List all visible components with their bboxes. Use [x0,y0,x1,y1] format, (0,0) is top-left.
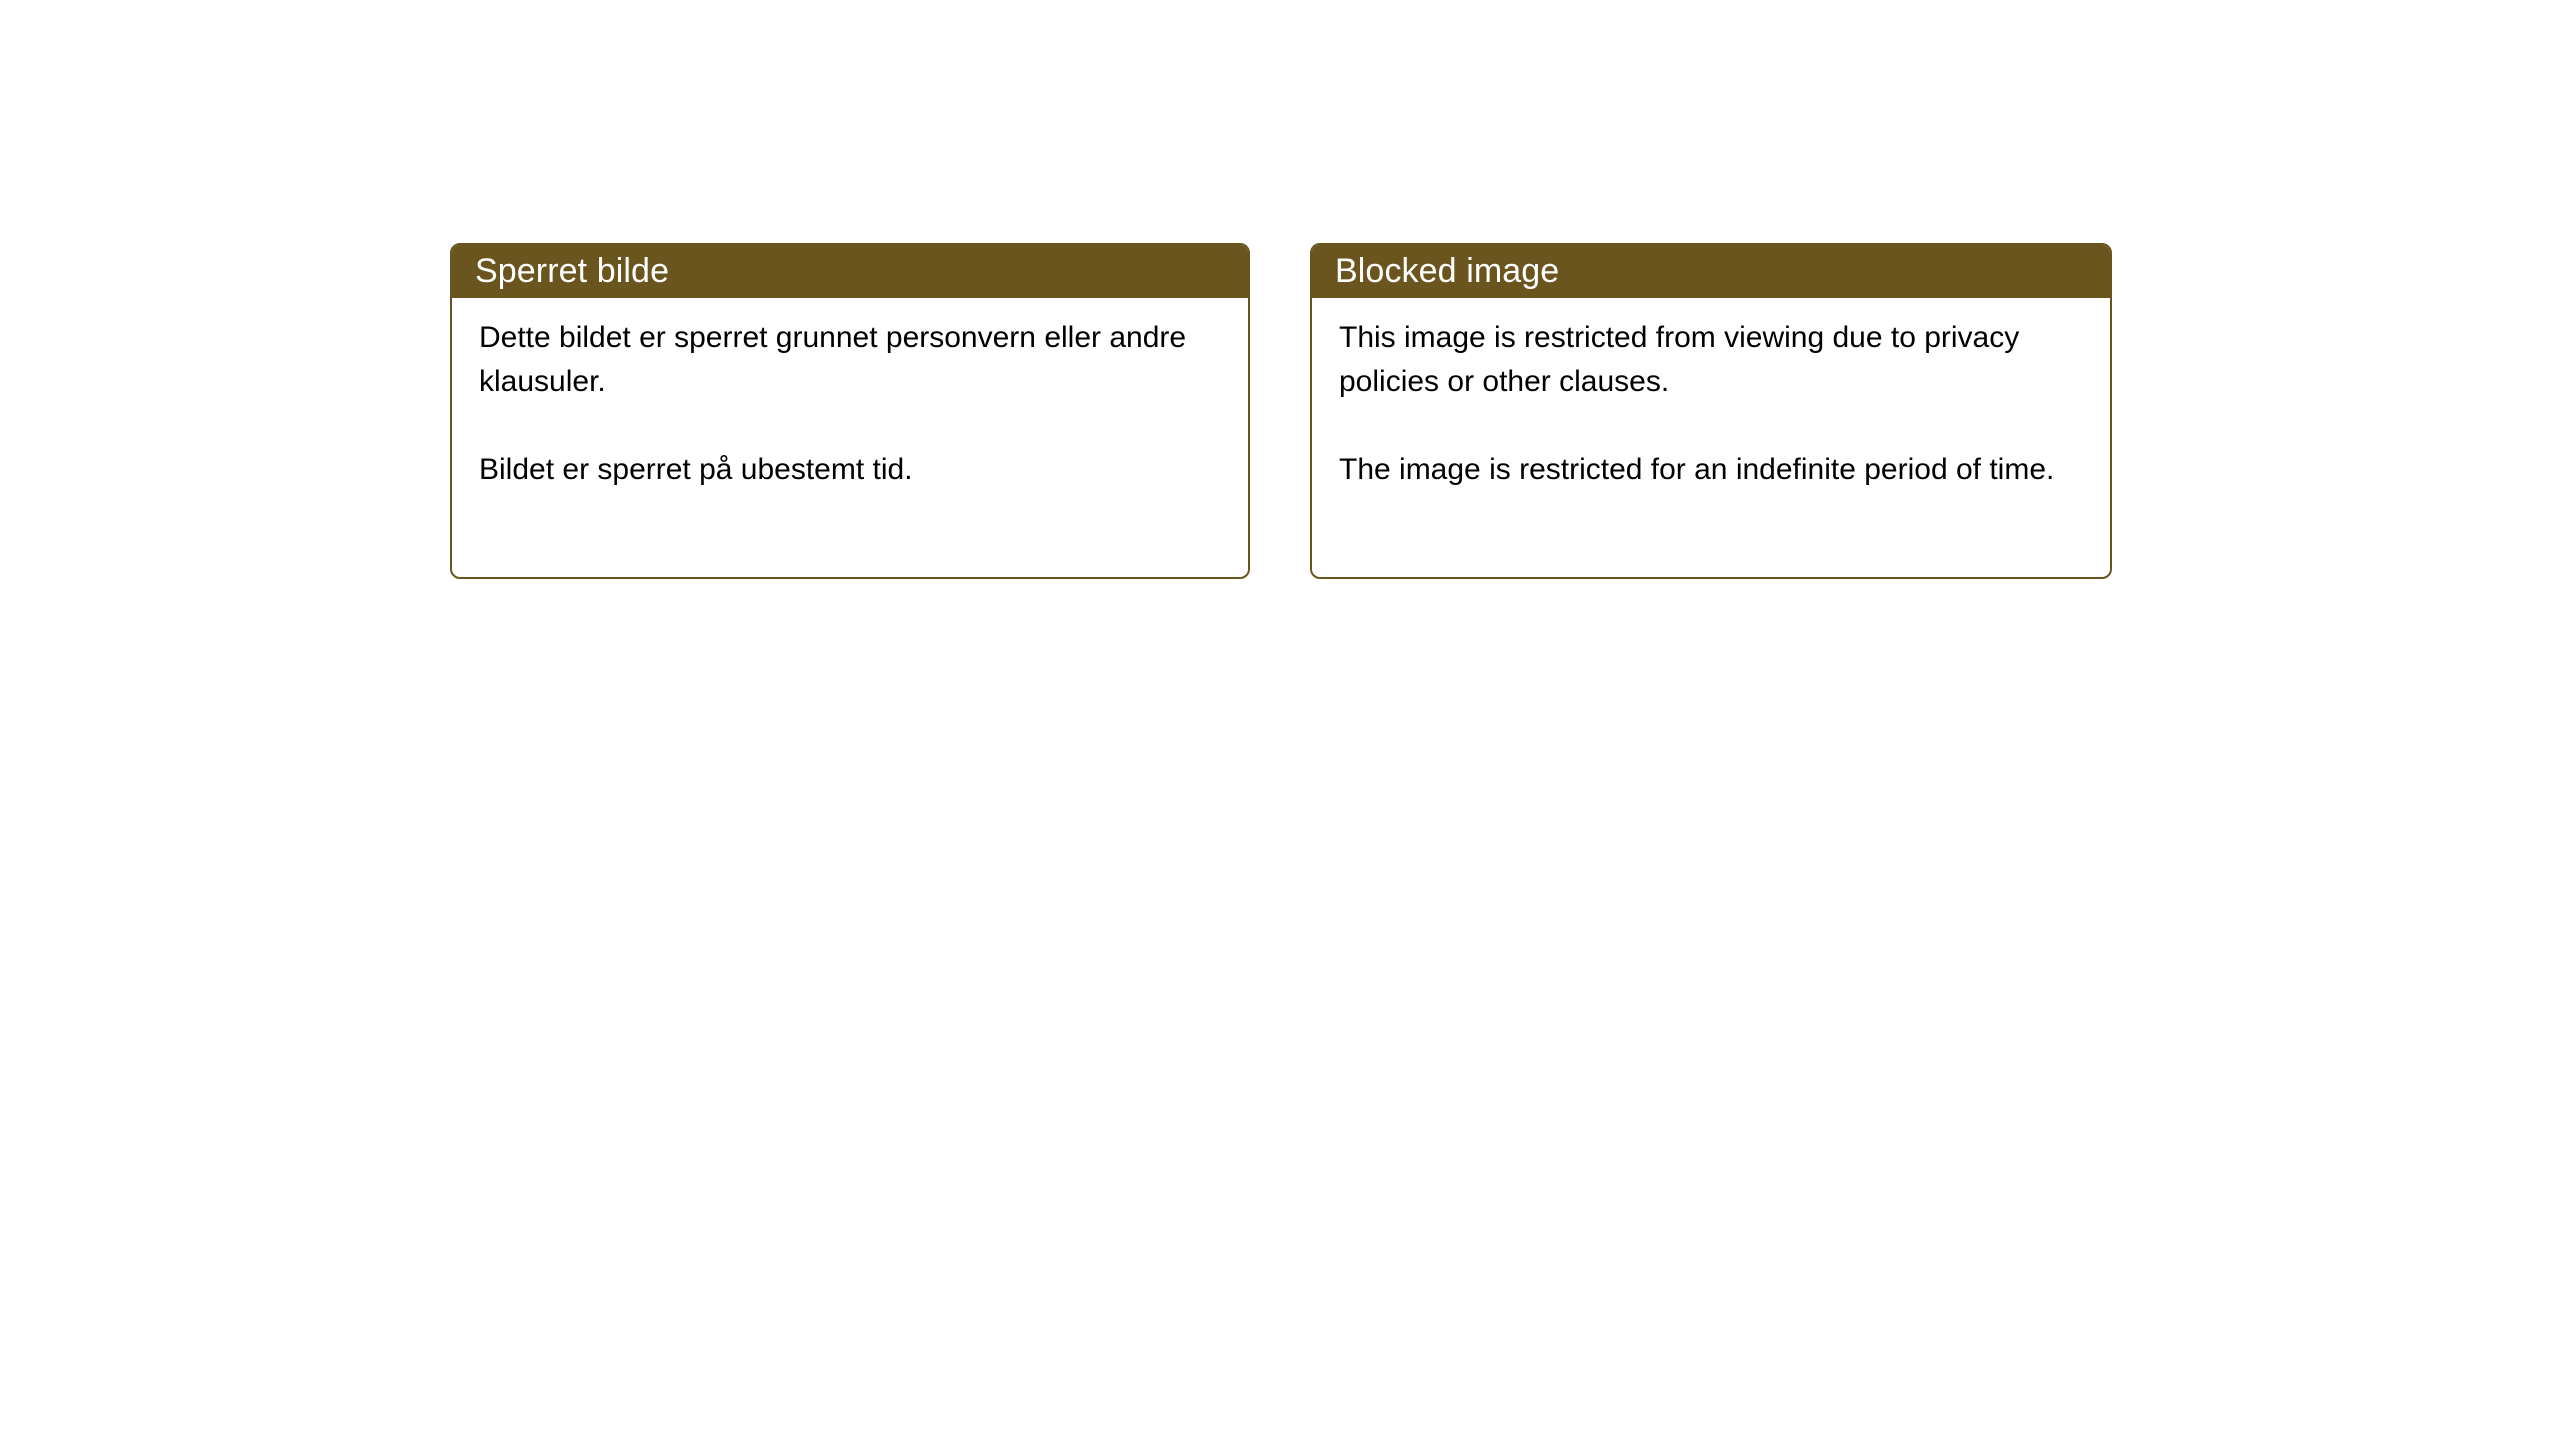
notice-card-header-norwegian: Sperret bilde [450,243,1250,298]
blocked-image-notice-card-norwegian: Sperret bilde Dette bildet er sperret gr… [450,243,1250,579]
notice-card-body-english: This image is restricted from viewing du… [1312,298,2110,492]
page-canvas: Sperret bilde Dette bildet er sperret gr… [0,0,2560,1440]
blocked-image-notice-card-english: Blocked image This image is restricted f… [1310,243,2112,579]
notice-card-title-norwegian: Sperret bilde [475,252,669,290]
notice-paragraph-reason-norwegian: Dette bildet er sperret grunnet personve… [479,316,1224,404]
notice-card-title-english: Blocked image [1335,252,1559,290]
notice-card-body-norwegian: Dette bildet er sperret grunnet personve… [452,298,1248,492]
notice-paragraph-duration-norwegian: Bildet er sperret på ubestemt tid. [479,448,1224,492]
notice-paragraph-reason-english: This image is restricted from viewing du… [1339,316,2086,404]
notice-card-header-english: Blocked image [1310,243,2112,298]
notice-paragraph-duration-english: The image is restricted for an indefinit… [1339,448,2086,492]
